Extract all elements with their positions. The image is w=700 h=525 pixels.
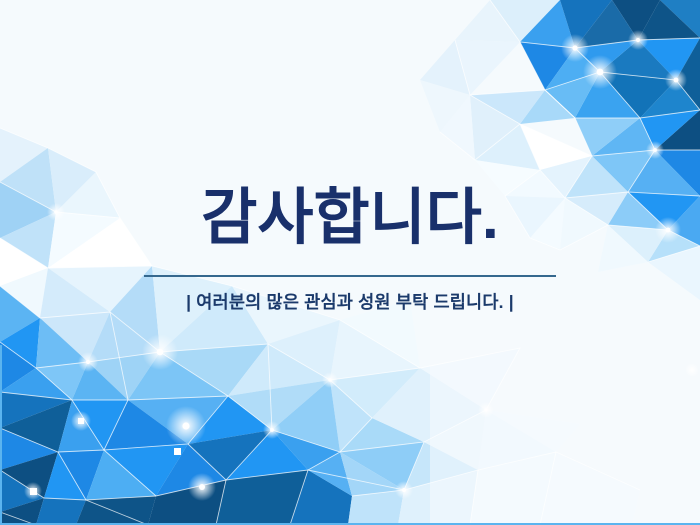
low-poly-background [0,0,700,525]
presentation-slide: 감사합니다. | 여러분의 많은 관심과 성원 부탁 드립니다. | [0,0,700,525]
left-edge-line [0,345,2,525]
